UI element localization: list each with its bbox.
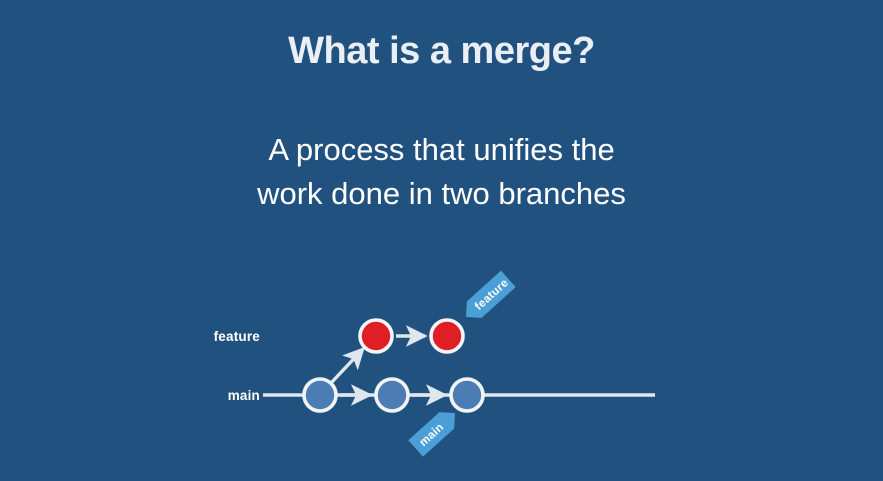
branch-tag-main[interactable]: main bbox=[408, 405, 462, 457]
merge-diagram: feature main bbox=[0, 0, 883, 481]
commit-node-main-2[interactable] bbox=[376, 379, 408, 411]
commit-node-feature-1[interactable] bbox=[360, 320, 392, 352]
branch-tag-feature[interactable]: feature bbox=[459, 271, 516, 325]
commit-node-main-1[interactable] bbox=[304, 379, 336, 411]
slide-canvas: What is a merge? A process that unifies … bbox=[0, 0, 883, 481]
arrow-main1-to-feature1 bbox=[331, 349, 363, 383]
commit-node-feature-2[interactable] bbox=[431, 320, 463, 352]
commit-node-main-3[interactable] bbox=[451, 379, 483, 411]
